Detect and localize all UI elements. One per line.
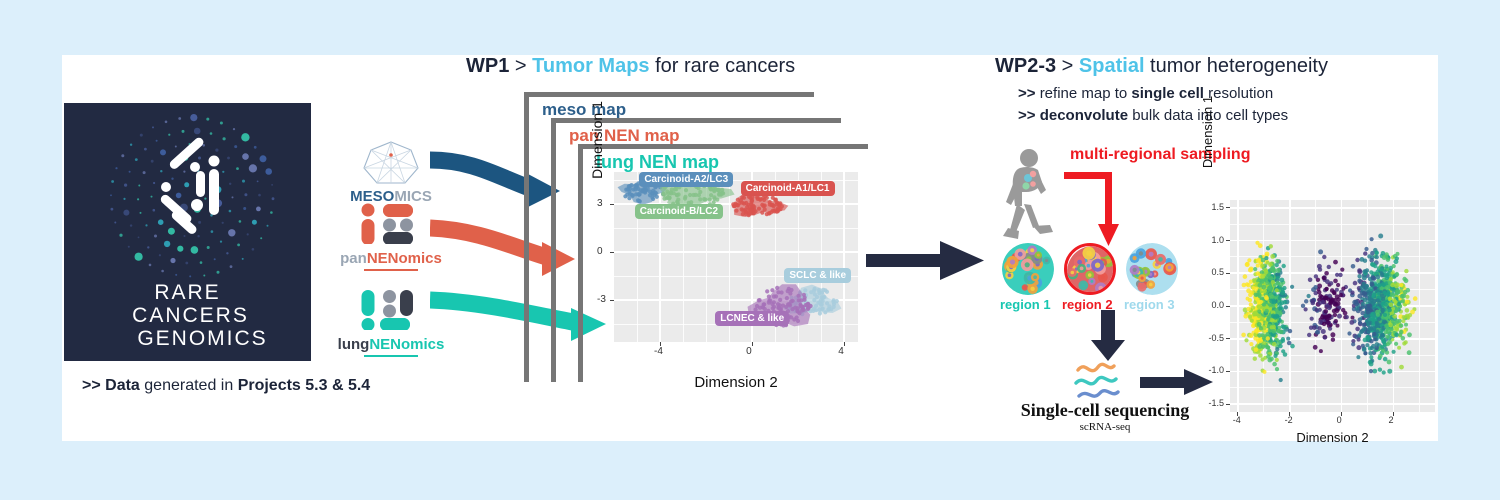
umap-x-tick: 0 bbox=[1337, 415, 1342, 425]
umap-y-tick: 1.0 bbox=[1196, 235, 1224, 245]
lung-nen-y-axis-label: Dimension 1 bbox=[589, 80, 605, 200]
wp1-title: WP1 > Tumor Maps for rare cancers bbox=[466, 55, 866, 78]
wp23-bullet-1: >> refine map to single cell resolution bbox=[1018, 85, 1458, 102]
umap-x-tickmark bbox=[1393, 412, 1394, 416]
umap-y-tickmark bbox=[1226, 273, 1230, 274]
umap-x-tickmark bbox=[1237, 412, 1238, 416]
lung-y-tick: 0 bbox=[597, 246, 603, 257]
umap-y-tick: -1.5 bbox=[1196, 398, 1224, 408]
lung-x-tickmark bbox=[844, 342, 845, 346]
umap-y-tickmark bbox=[1226, 371, 1230, 372]
cluster-label-0: Carcinoid-A2/LC3 bbox=[639, 172, 733, 187]
umap-y-tick: -1.0 bbox=[1196, 365, 1224, 375]
rna-transcripts-icon bbox=[1072, 358, 1142, 406]
region-circle-1 bbox=[1002, 243, 1054, 295]
umap-x-axis-label: Dimension 2 bbox=[1230, 430, 1435, 445]
logo-line-2: CANCERS bbox=[64, 304, 311, 327]
umap-y-tickmark bbox=[1226, 306, 1230, 307]
workflow-arrow-down bbox=[1088, 310, 1128, 362]
umap-y-tickmark bbox=[1226, 404, 1230, 405]
umap-y-tick: 0.0 bbox=[1196, 300, 1224, 310]
figure-root: RARE CANCERS GENOMICS ME bbox=[0, 0, 1500, 500]
lung-nen-x-axis-label: Dimension 2 bbox=[614, 374, 858, 391]
lung-nen-scatter-plot: Carcinoid-A2/LC3Carcinoid-B/LC2Carcinoid… bbox=[614, 172, 858, 342]
umap-x-tick: -4 bbox=[1233, 415, 1241, 425]
logo-line-3: GENOMICS bbox=[64, 327, 311, 350]
lung-x-tickmark bbox=[660, 342, 661, 346]
lung-y-tick: -3 bbox=[597, 294, 606, 305]
sampling-red-arrow bbox=[1058, 160, 1128, 248]
logo-line-1: RARE bbox=[64, 281, 311, 304]
logo-wordmark: RARE CANCERS GENOMICS bbox=[64, 281, 311, 350]
data-source-caption: >> Data generated in Projects 5.3 & 5.4 bbox=[82, 377, 370, 395]
umap-x-tickmark bbox=[1341, 412, 1342, 416]
umap-y-tick: 0.5 bbox=[1196, 267, 1224, 277]
cluster-label-4: LCNEC & like bbox=[715, 311, 789, 326]
lung-y-tickmark bbox=[610, 300, 614, 301]
umap-y-tickmark bbox=[1226, 240, 1230, 241]
lung-x-tickmark bbox=[752, 342, 753, 346]
umap-x-tick: -2 bbox=[1285, 415, 1293, 425]
scrna-seq-sublabel: scRNA-seq bbox=[990, 421, 1220, 433]
region-label-3: region 3 bbox=[1124, 297, 1175, 312]
lung-x-tick: 0 bbox=[746, 346, 752, 357]
workflow-arrow-wp1-to-wp23 bbox=[866, 238, 986, 284]
cluster-label-2: Carcinoid-A1/LC1 bbox=[741, 181, 835, 196]
rare-cancers-genomics-hex-logo bbox=[64, 109, 311, 279]
rare-cancers-genomics-logo-block: RARE CANCERS GENOMICS bbox=[64, 103, 311, 361]
umap-x-tick: 2 bbox=[1388, 415, 1393, 425]
lung-x-tick: -4 bbox=[654, 346, 663, 357]
umap-x-tickmark bbox=[1289, 412, 1290, 416]
wp23-bullet-2: >> deconvolute bulk data into cell types bbox=[1018, 107, 1458, 124]
umap-y-tick: 1.5 bbox=[1196, 202, 1224, 212]
cluster-label-3: SCLC & like bbox=[784, 268, 851, 283]
single-cell-umap-plot bbox=[1230, 200, 1435, 412]
cluster-label-1: Carcinoid-B/LC2 bbox=[635, 204, 723, 219]
region-circle-2 bbox=[1064, 243, 1116, 295]
umap-y-tick: -0.5 bbox=[1196, 333, 1224, 343]
lung-x-tick: 4 bbox=[838, 346, 844, 357]
wp23-title: WP2-3 > Spatial tumor heterogeneity bbox=[995, 55, 1465, 78]
lung-y-tickmark bbox=[610, 204, 614, 205]
umap-y-tickmark bbox=[1226, 207, 1230, 208]
region-label-1: region 1 bbox=[1000, 297, 1051, 312]
walking-person-icon bbox=[1000, 148, 1060, 248]
umap-y-axis-label: Dimension 1 bbox=[1200, 42, 1215, 222]
single-cell-sequencing-label: Single-cell sequencing bbox=[990, 400, 1220, 421]
lung-y-tickmark bbox=[610, 252, 614, 253]
region-circles-group: region 1 region 2 region 3 bbox=[1002, 243, 1182, 313]
region-circle-3 bbox=[1126, 243, 1178, 295]
lung-y-tick: 3 bbox=[597, 198, 603, 209]
umap-y-tickmark bbox=[1226, 338, 1230, 339]
